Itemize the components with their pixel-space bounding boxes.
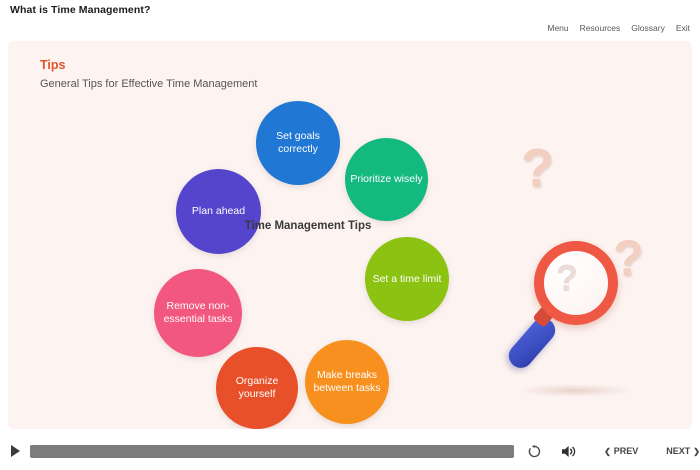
question-mark-icon: ? [521, 141, 554, 195]
nav-link-glossary[interactable]: Glossary [631, 23, 665, 33]
bubble-label: Set goals correctly [260, 130, 336, 156]
magnifier-handle [504, 313, 560, 373]
nav-link-exit[interactable]: Exit [676, 23, 690, 33]
volume-button[interactable] [560, 443, 578, 459]
bubble-make-breaks-between-tasks[interactable]: Make breaks between tasks [305, 340, 389, 424]
magnifying-glass-icon: ? [506, 236, 636, 396]
diagram-center-label: Time Management Tips [233, 219, 383, 234]
prev-button[interactable]: ❮ PREV [604, 446, 638, 456]
bubble-set-goals-correctly[interactable]: Set goals correctly [256, 101, 340, 185]
bubble-plan-ahead[interactable]: Plan ahead [176, 169, 261, 254]
replay-button[interactable] [526, 443, 542, 459]
magnifier-shadow [516, 384, 634, 397]
player-bar: ❮ PREV NEXT ❯ [0, 432, 700, 470]
bubble-organize-yourself[interactable]: Organize yourself [216, 347, 298, 429]
bubble-label: Prioritize wisely [350, 173, 422, 186]
play-icon [11, 445, 20, 457]
next-button[interactable]: NEXT ❯ [666, 446, 700, 456]
bubble-remove-non-essential-tasks[interactable]: Remove non-essential tasks [154, 269, 242, 357]
play-button[interactable] [9, 443, 23, 459]
time-management-bubble-diagram: Set goals correctly Prioritize wisely Se… [138, 91, 478, 421]
tips-subheading: General Tips for Effective Time Manageme… [40, 78, 257, 90]
top-bar: What is Time Management? Menu Resources … [0, 0, 700, 42]
replay-icon [527, 444, 542, 459]
top-navigation: Menu Resources Glossary Exit [547, 23, 690, 33]
bubble-prioritize-wisely[interactable]: Prioritize wisely [345, 138, 428, 221]
nav-link-resources[interactable]: Resources [580, 23, 621, 33]
prev-button-label: PREV [614, 446, 639, 456]
bubble-label: Set a time limit [373, 273, 442, 286]
tips-heading: Tips [40, 58, 65, 72]
bubble-label: Make breaks between tasks [309, 369, 385, 395]
chevron-left-icon: ❮ [604, 447, 611, 456]
magnifier-illustration: ? ? ? [488, 96, 678, 416]
page-title: What is Time Management? [10, 4, 150, 16]
next-button-label: NEXT [666, 446, 690, 456]
bubble-label: Remove non-essential tasks [158, 300, 238, 326]
bubble-label: Organize yourself [220, 375, 294, 401]
bubble-label: Plan ahead [192, 205, 245, 218]
seek-bar[interactable] [30, 445, 514, 458]
seek-bar-fill [30, 445, 514, 458]
nav-link-menu[interactable]: Menu [547, 23, 568, 33]
bubble-set-a-time-limit[interactable]: Set a time limit [365, 237, 449, 321]
chevron-right-icon: ❯ [693, 447, 700, 456]
slide-stage: Tips General Tips for Effective Time Man… [8, 41, 692, 429]
volume-icon [561, 444, 578, 459]
question-mark-icon: ? [556, 260, 578, 296]
